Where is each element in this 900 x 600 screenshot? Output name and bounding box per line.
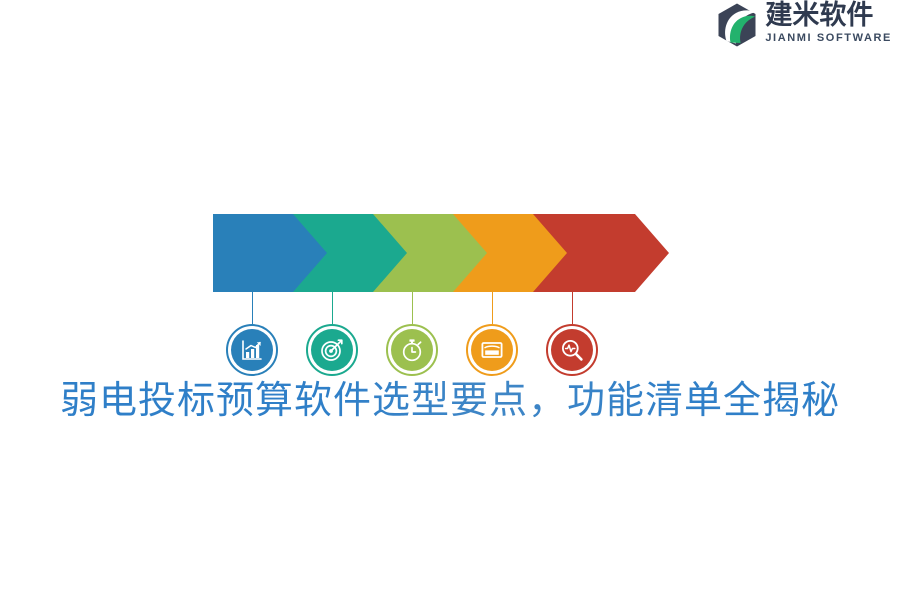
icon-badge-5[interactable] xyxy=(546,324,598,376)
brand-name-cn: 建米软件 xyxy=(765,1,892,30)
jianmi-leaf-hexagon-logo-icon xyxy=(713,1,761,49)
chevron-band xyxy=(213,214,653,292)
brand-name-en: JIANMI SOFTWARE xyxy=(765,31,892,45)
icon-badge-4[interactable] xyxy=(466,324,518,376)
icon-badge-3[interactable] xyxy=(386,324,438,376)
presentation-screen-icon xyxy=(471,329,513,371)
stopwatch-icon xyxy=(391,329,433,371)
chevron-process-infographic xyxy=(0,200,900,390)
brand-text: 建米软件 JIANMI SOFTWARE xyxy=(765,0,892,45)
brand-logo: 建米软件 JIANMI SOFTWARE xyxy=(713,0,892,52)
icon-badge-1[interactable] xyxy=(226,324,278,376)
target-dart-icon xyxy=(311,329,353,371)
icon-badge-2[interactable] xyxy=(306,324,358,376)
bar-chart-growth-icon xyxy=(231,329,273,371)
magnifier-pulse-icon xyxy=(551,329,593,371)
page-title: 弱电投标预算软件选型要点，功能清单全揭秘 xyxy=(0,372,900,428)
